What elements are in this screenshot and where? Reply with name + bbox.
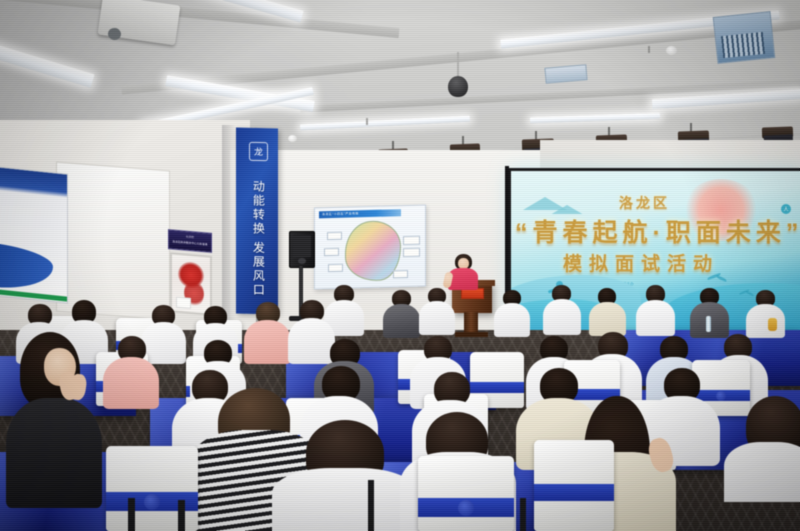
audience-body: [383, 304, 420, 338]
red-framed-poster: [170, 252, 212, 316]
audience-body: [244, 320, 291, 364]
map-label-chip: [327, 232, 342, 240]
map-poster-title: 洛龙区“十四五”产业布局: [322, 211, 359, 216]
poster-white-label: [176, 297, 191, 309]
smoke-detector-icon: [288, 135, 297, 142]
screen-corner-logo: 人: [781, 204, 791, 214]
banner-logo: 龙: [249, 142, 268, 161]
audience-body: [6, 398, 102, 508]
screen-subline: 模拟面试活动: [563, 249, 719, 276]
smoke-detector-icon: [666, 46, 677, 55]
water-bottle: [706, 316, 711, 332]
sprinkler-icon: [648, 46, 650, 53]
audience-body: [636, 300, 675, 336]
whiteboard: [56, 162, 170, 321]
audience-body: [724, 442, 800, 502]
podium-base: [455, 332, 488, 337]
podium-column: [464, 312, 478, 334]
chair-sash-knot: [458, 500, 474, 516]
chair-sash-knot: [144, 494, 160, 510]
air-vent-louvers: [721, 32, 765, 58]
dark-wall-sign-line2: 洛龙区政务服务中心公告信息: [171, 240, 209, 247]
screen-district-line: 洛龙区: [619, 193, 670, 213]
banner-text: 动能转换 发展风口: [249, 170, 266, 308]
pa-speaker-woofer: [298, 258, 306, 264]
audience-body: [494, 303, 530, 337]
map-poster-header: 洛龙区“十四五”产业布局: [319, 209, 401, 218]
chair-sash-knot: [716, 391, 726, 401]
audience-body: [746, 304, 785, 338]
audience-body: [543, 299, 581, 335]
dome-camera-icon: [448, 76, 468, 97]
poster-graphic: [0, 237, 53, 293]
audience-body: [272, 468, 418, 531]
dark-wall-sign: 公示栏 洛龙区政务服务中心公告信息: [168, 229, 212, 253]
poster-text: 务实 · 创新: [0, 220, 1, 234]
audience-body: [103, 357, 159, 409]
district-map-poster: 洛龙区“十四五”产业布局: [314, 205, 426, 290]
banquet-chair: [534, 440, 614, 531]
map-label-chip: [403, 248, 420, 257]
map-label-chip: [393, 270, 408, 278]
wall-corner-shadow: [222, 125, 236, 340]
roll-up-banner: 龙 动能转换 发展风口: [236, 128, 278, 315]
chair-leg: [368, 480, 374, 531]
audience-body: [589, 302, 626, 336]
chair-leg: [178, 500, 185, 531]
audience-body: [288, 318, 335, 364]
screen-headline: “青春起航·职面未来”: [515, 213, 800, 249]
chair-sash: [470, 382, 524, 393]
map-label-chip: [324, 248, 339, 256]
pa-speaker-grille: [293, 235, 311, 257]
sprinkler-icon: [366, 118, 368, 125]
chair-leg: [128, 498, 135, 531]
pa-loudspeaker: [289, 231, 315, 268]
speaker-body: 主持人: [448, 268, 478, 290]
banquet-chair: [418, 456, 514, 531]
wall-poster-left: 务实 · 创新: [0, 162, 68, 304]
chair-sash: [534, 484, 614, 501]
flower-vase: [768, 318, 777, 331]
event-photo-scene: 务实 · 创新 公示栏 洛龙区政务服务中心公告信息 龙 动能转换 发展风口 洛龙…: [0, 0, 800, 531]
chair-leg: [520, 498, 526, 531]
map-label-chip: [328, 264, 343, 272]
audience-body: [419, 301, 455, 335]
map-label-chip: [403, 236, 420, 245]
